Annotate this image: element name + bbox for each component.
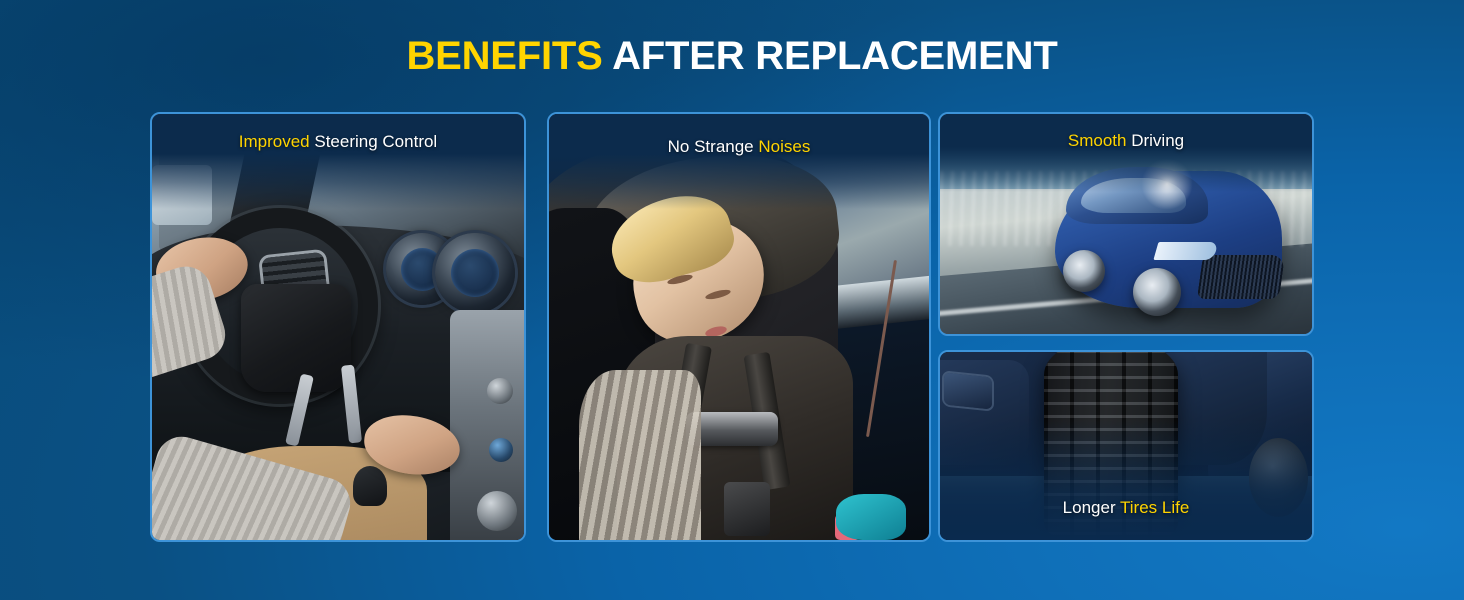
benefit-caption-improved-steering-control: Improved Steering Control — [152, 132, 524, 152]
benefit-caption-smooth-driving: Smooth Driving — [940, 131, 1312, 151]
caption-highlight: Tires Life — [1120, 498, 1189, 517]
benefit-card-longer-tires-life[interactable]: Longer Tires Life — [938, 350, 1314, 542]
benefit-card-smooth-driving[interactable]: Smooth Driving — [938, 112, 1314, 336]
caption-highlight: Improved — [239, 132, 310, 151]
benefit-caption-longer-tires-life: Longer Tires Life — [940, 498, 1312, 518]
caption-rest: Steering Control — [310, 132, 438, 151]
caption-scrim-bottom — [940, 420, 1312, 540]
benefit-card-no-strange-noises[interactable]: No Strange Noises — [547, 112, 931, 542]
caption-rest: Longer — [1063, 498, 1120, 517]
page-title: BENEFITS AFTER REPLACEMENT — [0, 34, 1464, 78]
caption-scrim-top — [549, 114, 929, 209]
caption-highlight: Noises — [758, 137, 810, 156]
page-title-rest: AFTER REPLACEMENT — [603, 34, 1058, 78]
caption-rest: Driving — [1126, 131, 1184, 150]
benefit-card-improved-steering-control[interactable]: Improved Steering Control — [150, 112, 526, 542]
page-title-highlight: BENEFITS — [406, 34, 602, 78]
caption-rest: No Strange — [668, 137, 759, 156]
caption-scrim-top — [940, 114, 1312, 192]
caption-scrim-top — [152, 114, 524, 209]
caption-highlight: Smooth — [1068, 131, 1127, 150]
benefit-caption-no-strange-noises: No Strange Noises — [549, 137, 929, 157]
